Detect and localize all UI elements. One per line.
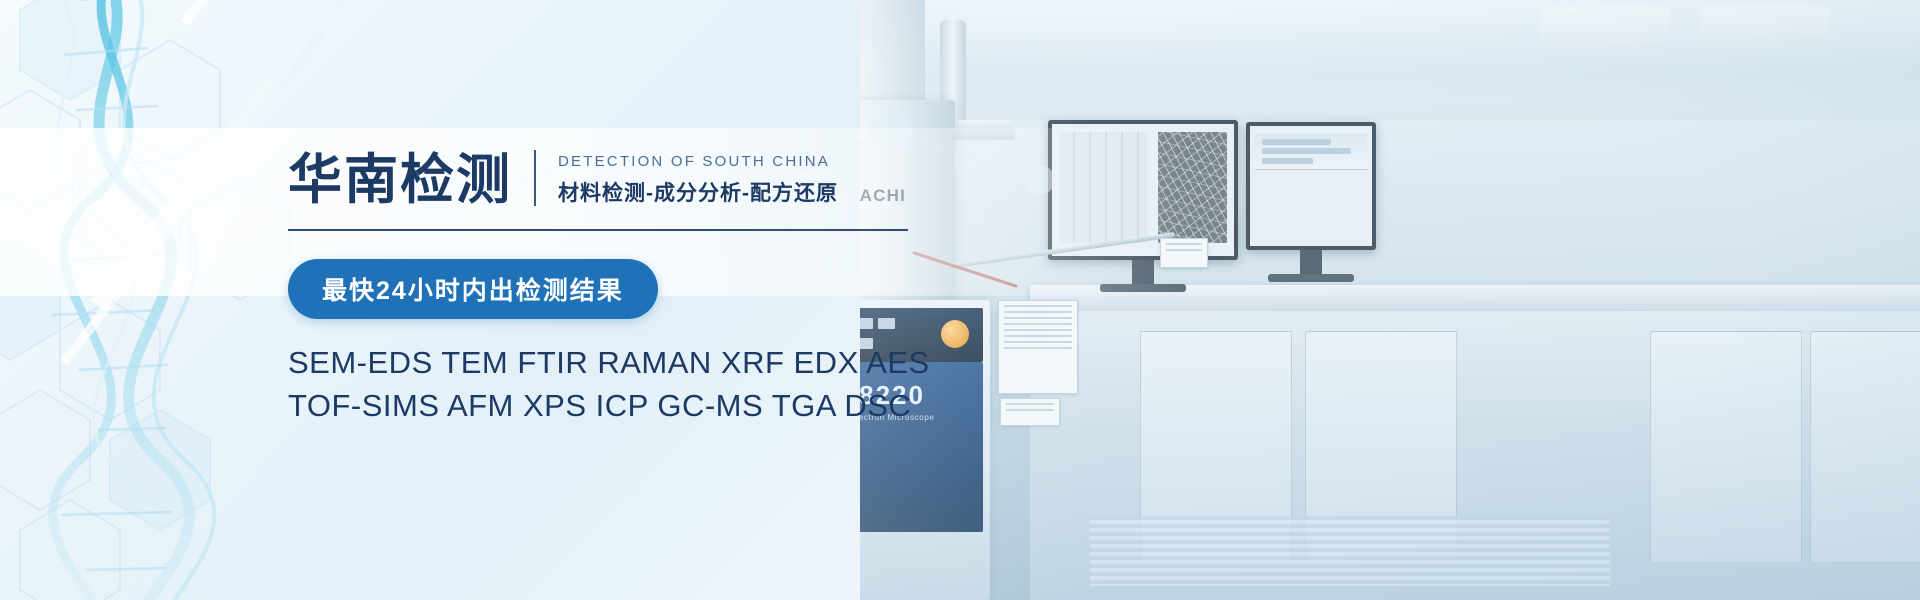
service-list: SEM-EDS TEM FTIR RAMAN XRF EDX AES TOF-S… <box>288 341 1048 427</box>
service-line-2: TOF-SIMS AFM XPS ICP GC-MS TGA DSC <box>288 384 1048 427</box>
brand-subtitle-cn: 材料检测-成分分析-配方还原 <box>558 177 838 207</box>
lab-bench-body <box>1030 311 1920 600</box>
brand-subtitle-block: DETECTION OF SOUTH CHINA 材料检测-成分分析-配方还原 <box>558 153 838 209</box>
brand-title: 华南检测 <box>288 151 512 209</box>
service-line-1: SEM-EDS TEM FTIR RAMAN XRF EDX AES <box>288 341 1048 384</box>
hero-banner: HITACHI SU8220 Scanning Electron Microsc… <box>0 0 1920 600</box>
monitor-center <box>1246 122 1376 250</box>
bench-vent-grille <box>1090 516 1610 586</box>
highlight-pill-badge[interactable]: 最快24小时内出检测结果 <box>288 259 658 319</box>
title-divider <box>534 150 536 206</box>
horizontal-rule <box>288 229 908 231</box>
hero-content: 华南检测 DETECTION OF SOUTH CHINA 材料检测-成分分析-… <box>288 150 1048 427</box>
brand-subtitle-en: DETECTION OF SOUTH CHINA <box>558 153 838 170</box>
brand-title-row: 华南检测 DETECTION OF SOUTH CHINA 材料检测-成分分析-… <box>288 150 1048 209</box>
